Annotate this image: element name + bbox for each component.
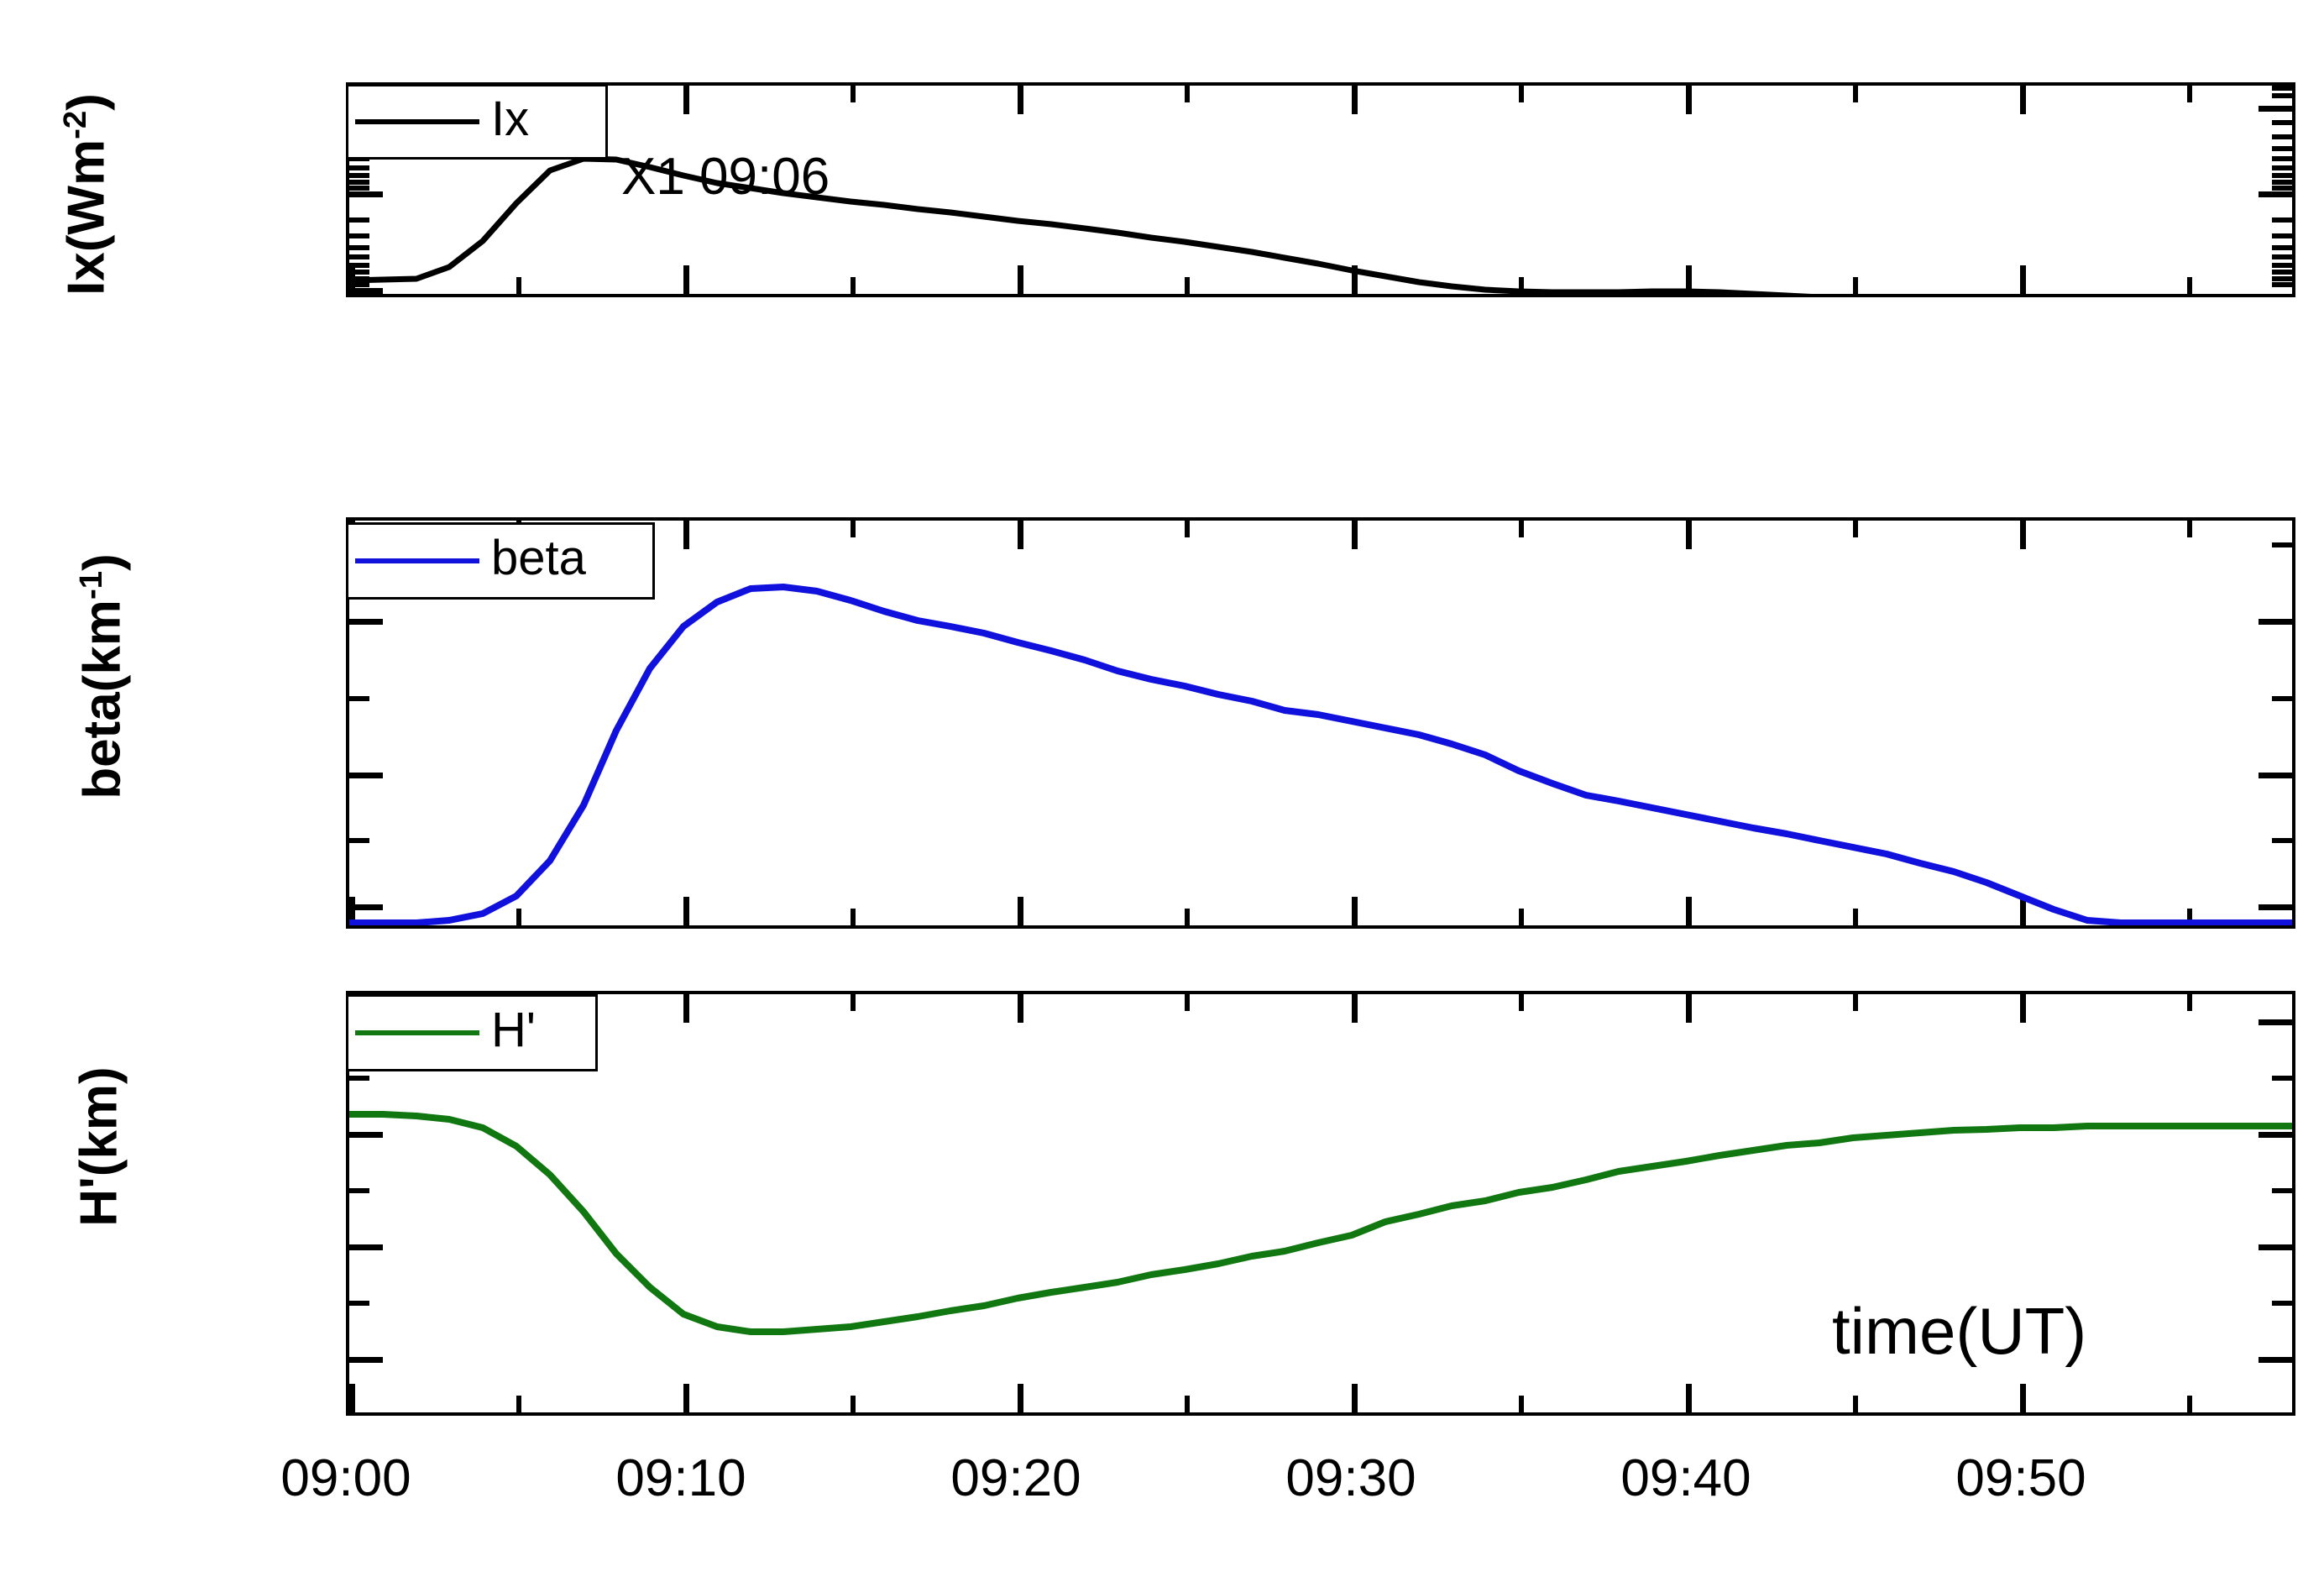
axis-label-ix-sup: -2 bbox=[57, 111, 93, 139]
axis-label-beta-tail: ) bbox=[74, 553, 132, 571]
axis-label-ix-tail: ) bbox=[58, 93, 116, 111]
xtick-3: 09:30 bbox=[1225, 1453, 1477, 1505]
figure-root: Ix(Wm-2) 10-4 10-5 10-6 bbox=[0, 0, 2324, 1582]
flare-annotation: X1 09:06 bbox=[621, 151, 830, 203]
legend-label-ix: Ix bbox=[491, 95, 529, 149]
xtick-0: 09:00 bbox=[220, 1453, 472, 1505]
xtick-1: 09:10 bbox=[555, 1453, 807, 1505]
xtick-4: 09:40 bbox=[1560, 1453, 1812, 1505]
axis-label-beta-text: beta(km bbox=[74, 600, 132, 799]
legend-hprime[interactable]: H' bbox=[346, 994, 598, 1071]
axis-title-time: time(UT) bbox=[1832, 1298, 2086, 1364]
axis-label-ix: Ix(Wm-2) bbox=[57, 14, 117, 375]
legend-swatch-beta bbox=[355, 558, 479, 563]
axis-label-ix-text: Ix(Wm bbox=[58, 139, 116, 296]
legend-swatch-hprime bbox=[355, 1030, 479, 1035]
series-line-beta bbox=[349, 587, 2292, 923]
legend-swatch-ix bbox=[355, 119, 479, 124]
legend-beta[interactable]: beta bbox=[346, 522, 655, 600]
legend-label-hprime: H' bbox=[491, 1006, 536, 1060]
axis-label-beta-sup: -1 bbox=[73, 571, 109, 600]
xtick-2: 09:20 bbox=[890, 1453, 1142, 1505]
legend-ix[interactable]: Ix bbox=[346, 84, 608, 160]
xtick-5: 09:50 bbox=[1895, 1453, 2147, 1505]
axis-label-hprime: H'(km) bbox=[70, 937, 129, 1357]
axis-label-beta: beta(km-1) bbox=[73, 442, 133, 912]
axis-label-hprime-text: H'(km) bbox=[71, 1066, 128, 1226]
legend-label-beta: beta bbox=[491, 534, 586, 588]
